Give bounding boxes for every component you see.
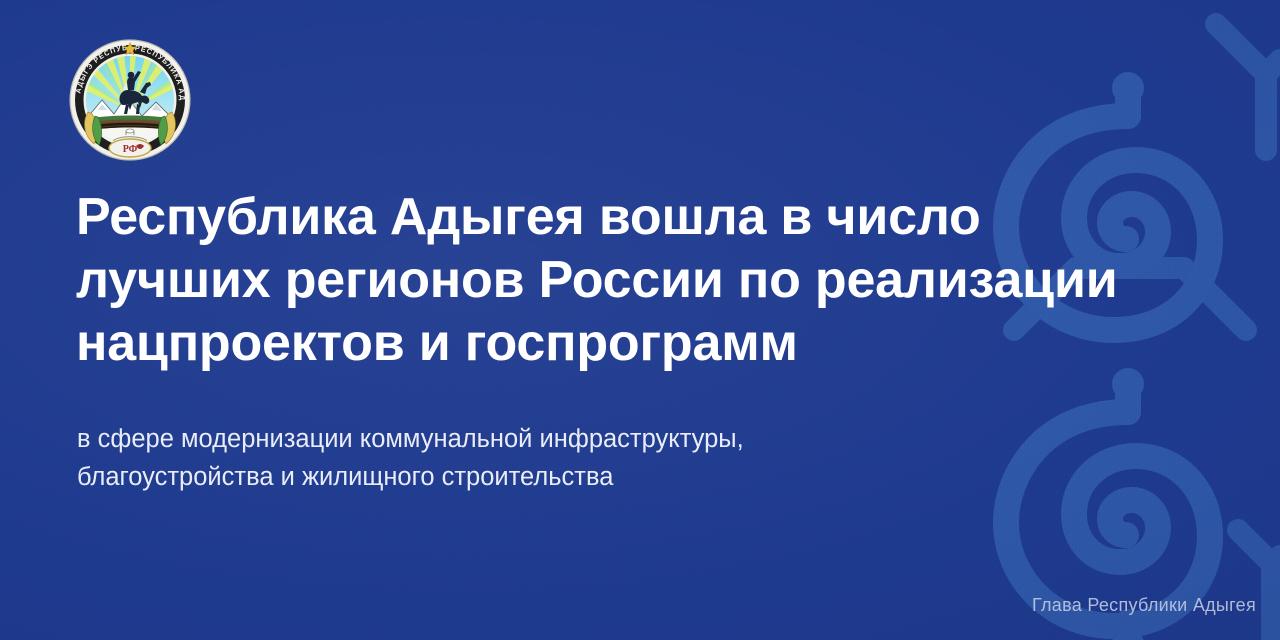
headline-line-3: нацпроектов и госпрограмм <box>76 312 1186 375</box>
subhead-line-1: в сфере модернизации коммунальной инфрас… <box>77 420 977 458</box>
adygea-coat-of-arms: РФ АДЫГЭ РЕСПУБЛИК РЕСПУБЛИКА АДЫГЕЯ <box>68 38 192 162</box>
headline-line-1: Республика Адыгея вошла в число <box>76 186 1186 249</box>
subhead-line-2: благоустройства и жилищного строительств… <box>77 458 977 496</box>
attribution-label: Глава Республики Адыгея <box>1032 594 1256 616</box>
page-subtitle: в сфере модернизации коммунальной инфрас… <box>77 420 977 496</box>
emblem-bottom-text: РФ <box>123 144 138 155</box>
page-title: Республика Адыгея вошла в число лучших р… <box>76 186 1186 375</box>
headline-line-2: лучших регионов России по реализации <box>76 249 1186 312</box>
announcement-card: РФ АДЫГЭ РЕСПУБЛИК РЕСПУБЛИКА АДЫГЕЯ Рес… <box>0 0 1280 640</box>
